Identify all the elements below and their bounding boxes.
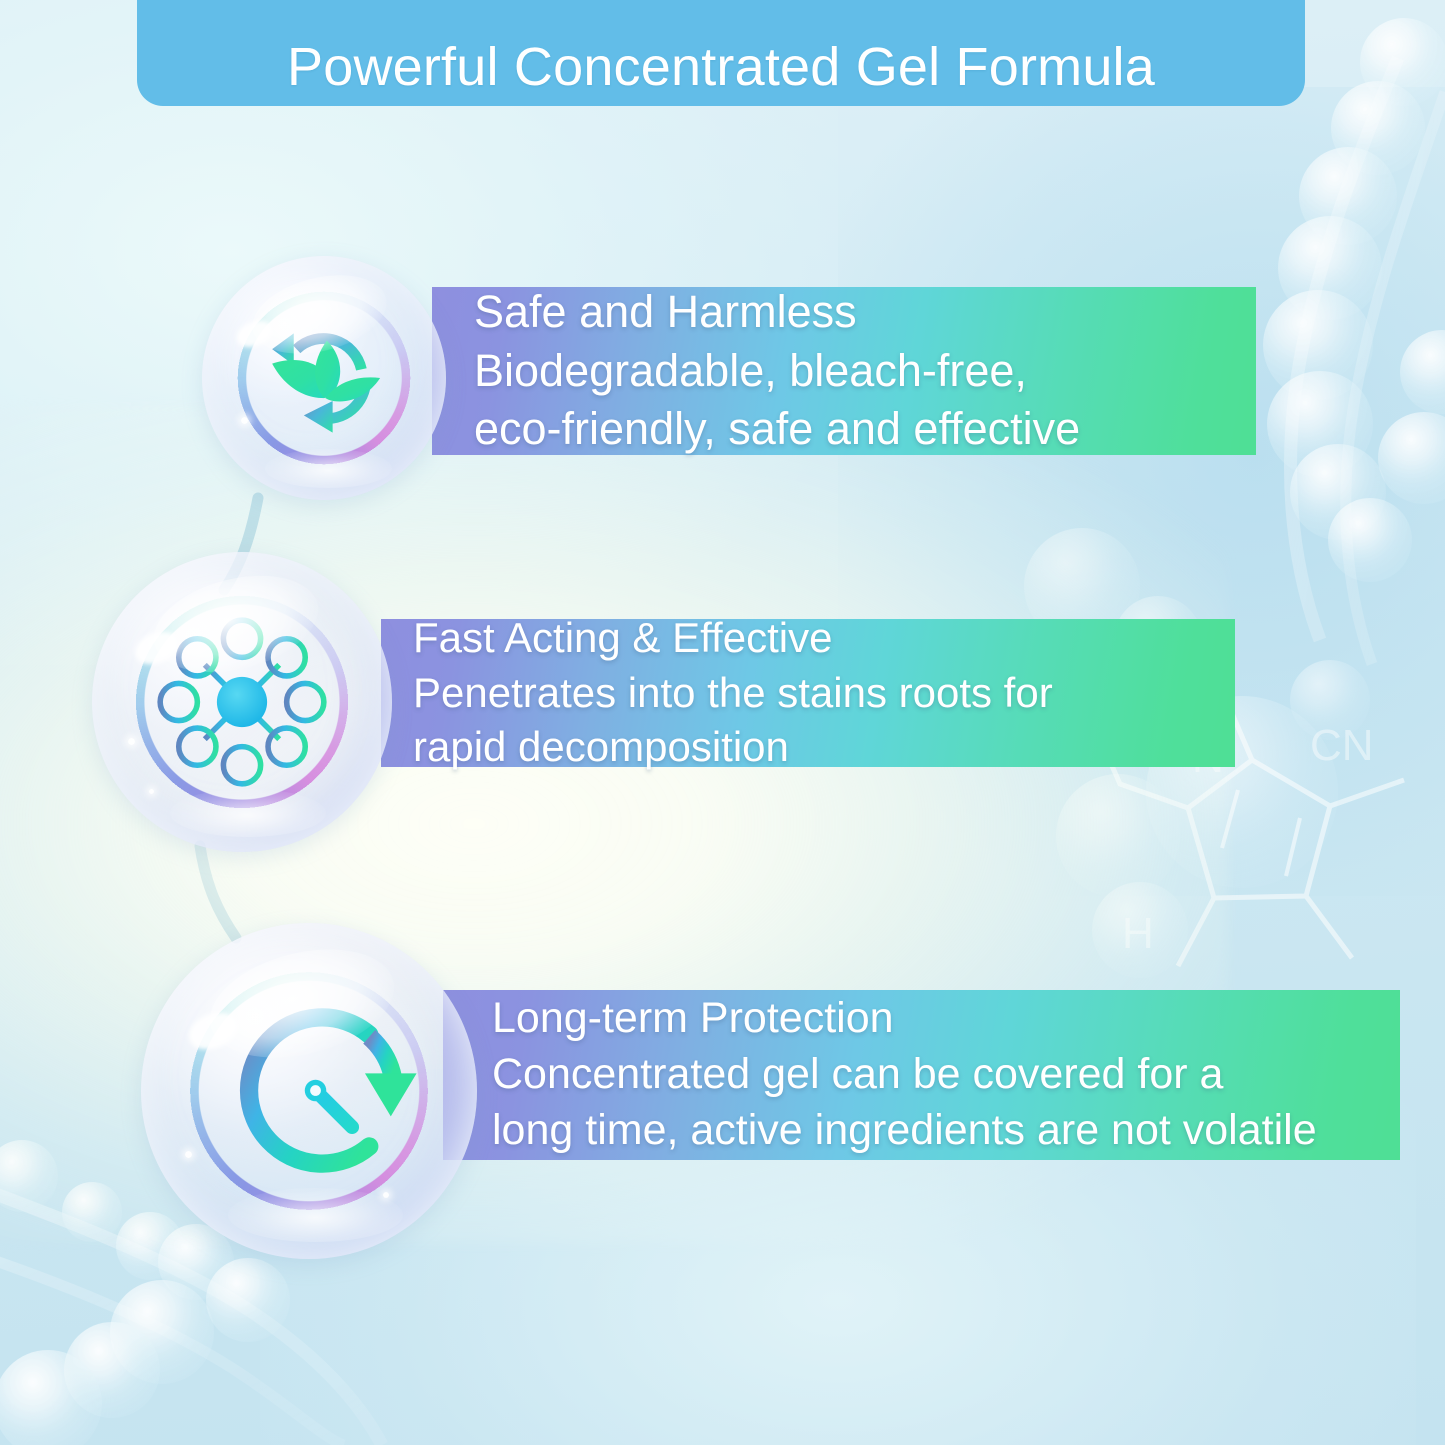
bubble-sparkle (128, 738, 135, 745)
page-title: Powerful Concentrated Gel Formula (287, 40, 1155, 94)
bubble-highlight-bottom (228, 1188, 403, 1242)
feature-headline: Fast Acting & Effective (413, 611, 1235, 666)
feature-headline: Safe and Harmless (474, 283, 1256, 342)
bubble-highlight-bottom (170, 789, 326, 837)
header-banner: Powerful Concentrated Gel Formula (137, 0, 1305, 106)
bubble-sparkle (383, 1192, 389, 1198)
feature-bubble-1 (202, 256, 446, 500)
bubble-sparkle (241, 417, 248, 424)
feature-bubble-3 (141, 923, 477, 1259)
product-infographic: N CN H Powerful Concentrated Gel Formula (0, 0, 1445, 1445)
feature-body-line: long time, active ingredients are not vo… (492, 1103, 1400, 1159)
feature-text-bar-1: Safe and Harmless Biodegradable, bleach-… (432, 287, 1256, 455)
bubble-sparkle (149, 789, 154, 794)
feature-body-line: Penetrates into the stains roots for (413, 666, 1235, 721)
feature-text-bar-3: Long-term Protection Concentrated gel ca… (443, 990, 1400, 1160)
feature-text-bar-2: Fast Acting & Effective Penetrates into … (381, 619, 1235, 767)
feature-body-line: Concentrated gel can be covered for a (492, 1047, 1400, 1103)
svg-text:CN: CN (1310, 721, 1374, 770)
feature-body-line: eco-friendly, safe and effective (474, 400, 1256, 459)
feature-headline: Long-term Protection (492, 991, 1400, 1047)
feature-body-line: rapid decomposition (413, 720, 1235, 775)
feature-bubble-2 (92, 552, 392, 852)
dna-helix-icon (1263, 18, 1445, 664)
bubble-highlight-bottom (265, 449, 392, 488)
feature-body-line: Biodegradable, bleach-free, (474, 342, 1256, 401)
